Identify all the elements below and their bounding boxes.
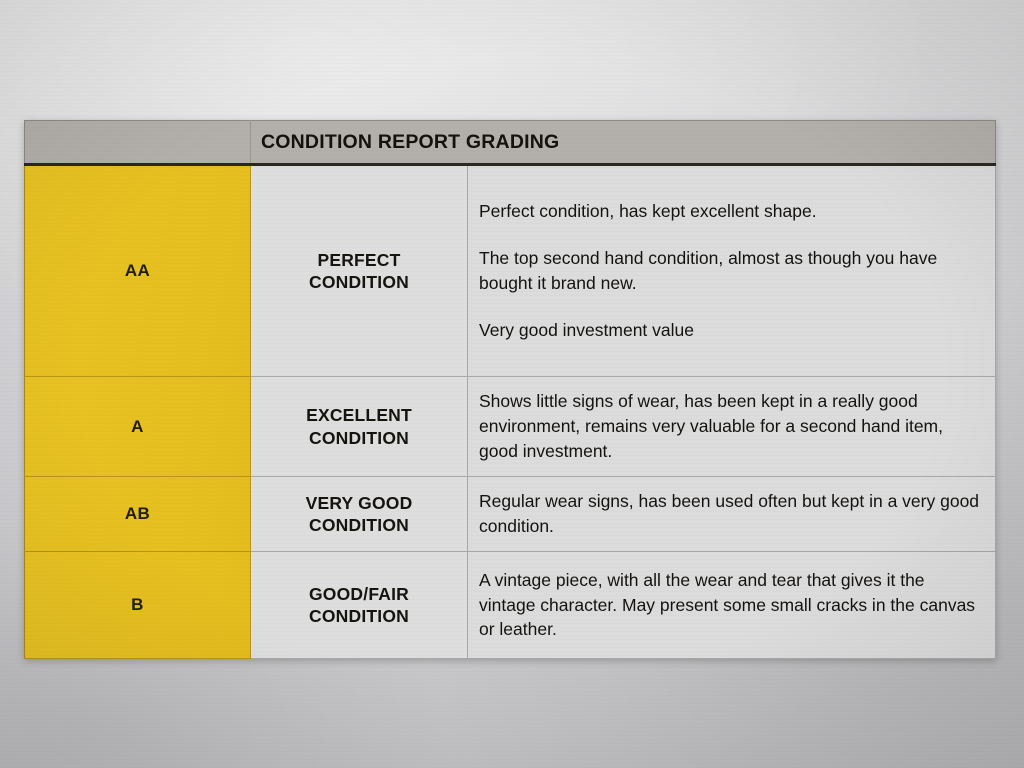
condition-label-line2: CONDITION [252,605,466,627]
description-paragraph: Regular wear signs, has been used often … [479,489,981,539]
description-aa: Perfect condition, has kept excellent sh… [468,165,996,377]
grade-badge-aa: AA [25,165,251,377]
condition-label-line2: CONDITION [252,514,466,536]
condition-label-b: GOOD/FAIR CONDITION [251,552,468,659]
grade-badge-b: B [25,552,251,659]
description-a: Shows little signs of wear, has been kep… [468,377,996,477]
condition-label-line1: VERY GOOD [252,492,466,514]
description-paragraph: Perfect condition, has kept excellent sh… [479,199,981,224]
table-row: B GOOD/FAIR CONDITION A vintage piece, w… [25,552,996,659]
condition-label-a: EXCELLENT CONDITION [251,377,468,477]
description-b: A vintage piece, with all the wear and t… [468,552,996,659]
table-header-row: CONDITION REPORT GRADING [25,121,996,165]
header-title-cell: CONDITION REPORT GRADING [251,121,996,165]
description-paragraph: Shows little signs of wear, has been kep… [479,389,981,464]
page-title: CONDITION REPORT GRADING [251,121,995,163]
table-row: AB VERY GOOD CONDITION Regular wear sign… [25,477,996,552]
description-paragraph: The top second hand condition, almost as… [479,246,981,296]
table-row: A EXCELLENT CONDITION Shows little signs… [25,377,996,477]
condition-label-line2: CONDITION [252,427,466,449]
condition-label-line2: CONDITION [252,271,466,293]
grade-badge-a: A [25,377,251,477]
condition-label-line1: PERFECT [252,249,466,271]
condition-label-aa: PERFECT CONDITION [251,165,468,377]
header-blank-cell [25,121,251,165]
condition-label-ab: VERY GOOD CONDITION [251,477,468,552]
photographed-document: CONDITION REPORT GRADING AA PERFECT COND… [0,0,1024,768]
description-ab: Regular wear signs, has been used often … [468,477,996,552]
description-paragraph: Very good investment value [479,318,981,343]
description-paragraph: A vintage piece, with all the wear and t… [479,568,981,643]
grade-badge-ab: AB [25,477,251,552]
condition-report-grading-table: CONDITION REPORT GRADING AA PERFECT COND… [24,120,996,659]
condition-label-line1: GOOD/FAIR [252,583,466,605]
condition-label-line1: EXCELLENT [252,404,466,426]
table-row: AA PERFECT CONDITION Perfect condition, … [25,165,996,377]
